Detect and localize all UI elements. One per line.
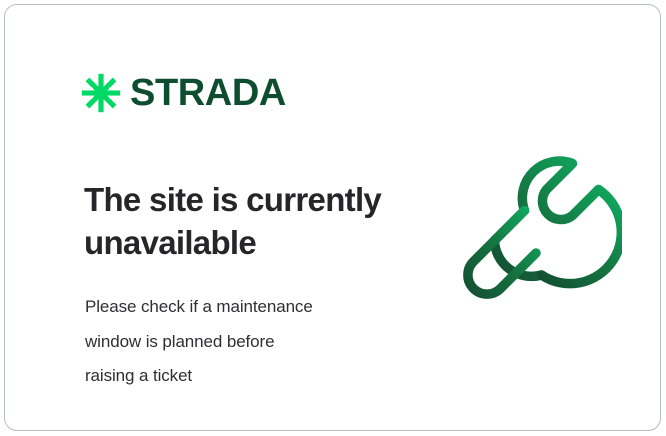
brand-wordmark: STRADA — [130, 74, 286, 112]
brand-logo: STRADA — [81, 73, 286, 113]
page-description: Please check if a maintenance window is … — [85, 290, 415, 394]
wrench-outline — [468, 161, 621, 294]
status-card: STRADA The site is currently unavailable… — [4, 4, 661, 431]
asterisk-star-icon — [81, 73, 121, 113]
page-title: The site is currently unavailable — [84, 179, 424, 265]
wrench-illustration — [457, 153, 622, 318]
error-page: STRADA The site is currently unavailable… — [0, 0, 666, 436]
